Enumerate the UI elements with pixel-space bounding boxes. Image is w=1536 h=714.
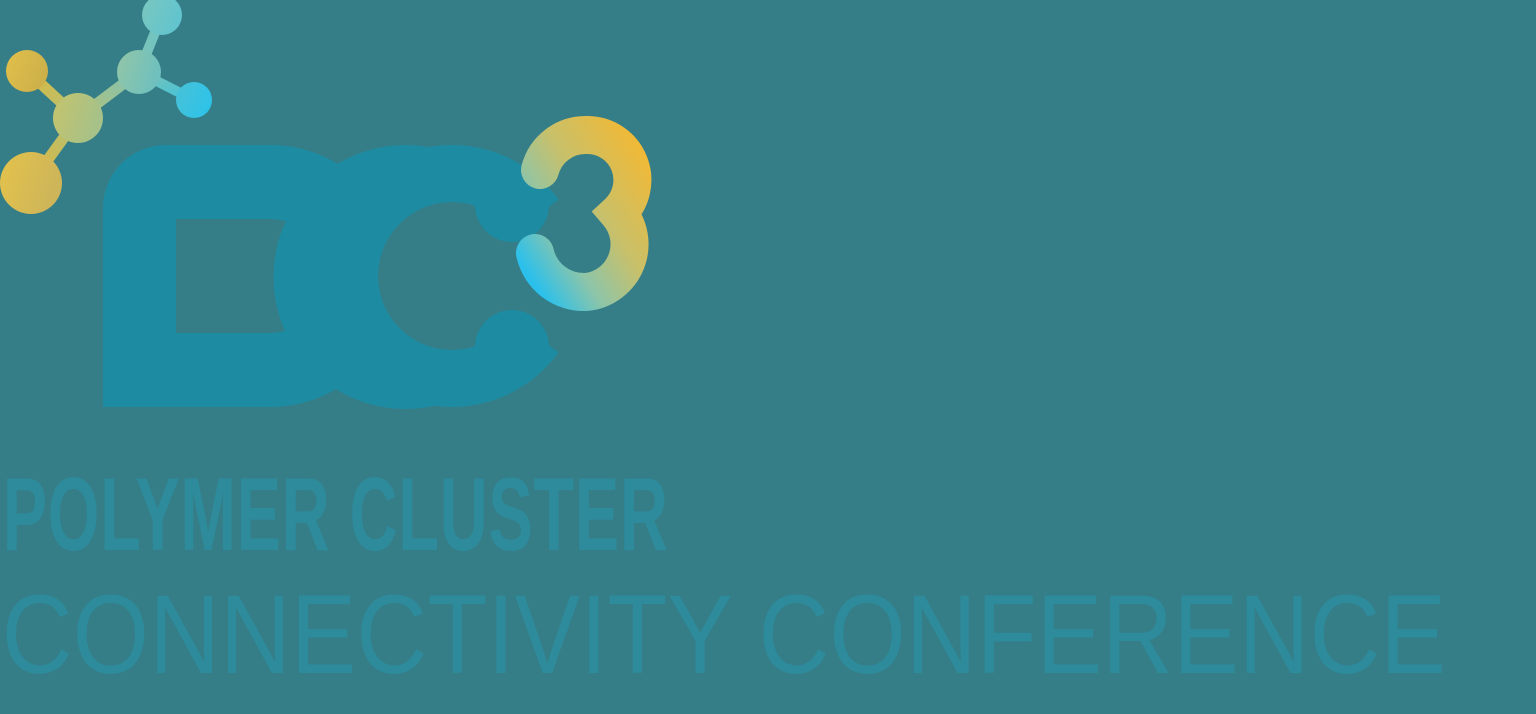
node-gold-lower-left	[0, 152, 62, 214]
node-teal-center	[117, 50, 161, 94]
logo-page: { "brand": { "monogram_letters": "PC", "…	[0, 0, 1536, 714]
node-cyan-right	[176, 82, 212, 118]
wordmark-line-secondary: CONNECTIVITY CONFERENCE	[0, 580, 1347, 690]
node-gold-upper-left	[6, 50, 48, 92]
wordmark-line-primary: POLYMER CLUSTER	[0, 460, 984, 570]
node-olive-center-left	[53, 93, 103, 143]
